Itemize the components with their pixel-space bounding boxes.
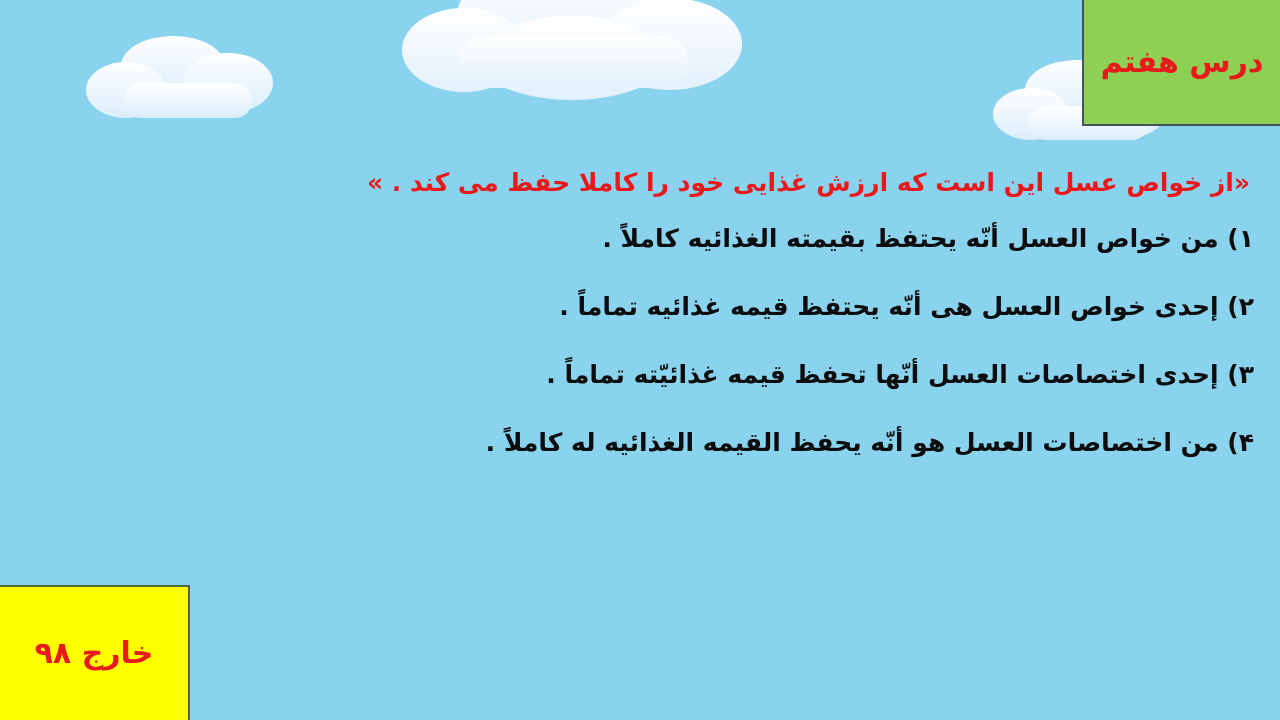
answer-option-1[interactable]: ۱) من خواص العسل أنّه یحتفظ بقیمته الغذا… [26, 224, 1254, 254]
lesson-badge-label: درس هفتم [1101, 45, 1264, 80]
slide-canvas: درس هفتم «از خواص عسل این است که ارزش غذ… [0, 0, 1280, 720]
answer-option-4[interactable]: ۴) من اختصاصات العسل هو أنّه یحفظ القیمه… [26, 428, 1254, 458]
cloud-icon-center [392, 0, 752, 118]
exam-badge-label: خارج ۹۸ [35, 636, 154, 671]
cloud-icon-left [78, 28, 288, 128]
lesson-badge: درس هفتم [1082, 0, 1280, 126]
answer-option-2[interactable]: ۲) إحدی خواص العسل هی أنّه یحتفظ قیمه غذ… [26, 292, 1254, 322]
question-block: «از خواص عسل این است که ارزش غذایی خود ر… [26, 168, 1254, 458]
question-prompt: «از خواص عسل این است که ارزش غذایی خود ر… [26, 168, 1254, 198]
exam-badge: خارج ۹۸ [0, 585, 190, 720]
answer-option-3[interactable]: ۳) إحدی اختصاصات العسل أنّها تحفظ قیمه غ… [26, 360, 1254, 390]
answer-options-list: ۱) من خواص العسل أنّه یحتفظ بقیمته الغذا… [26, 224, 1254, 458]
